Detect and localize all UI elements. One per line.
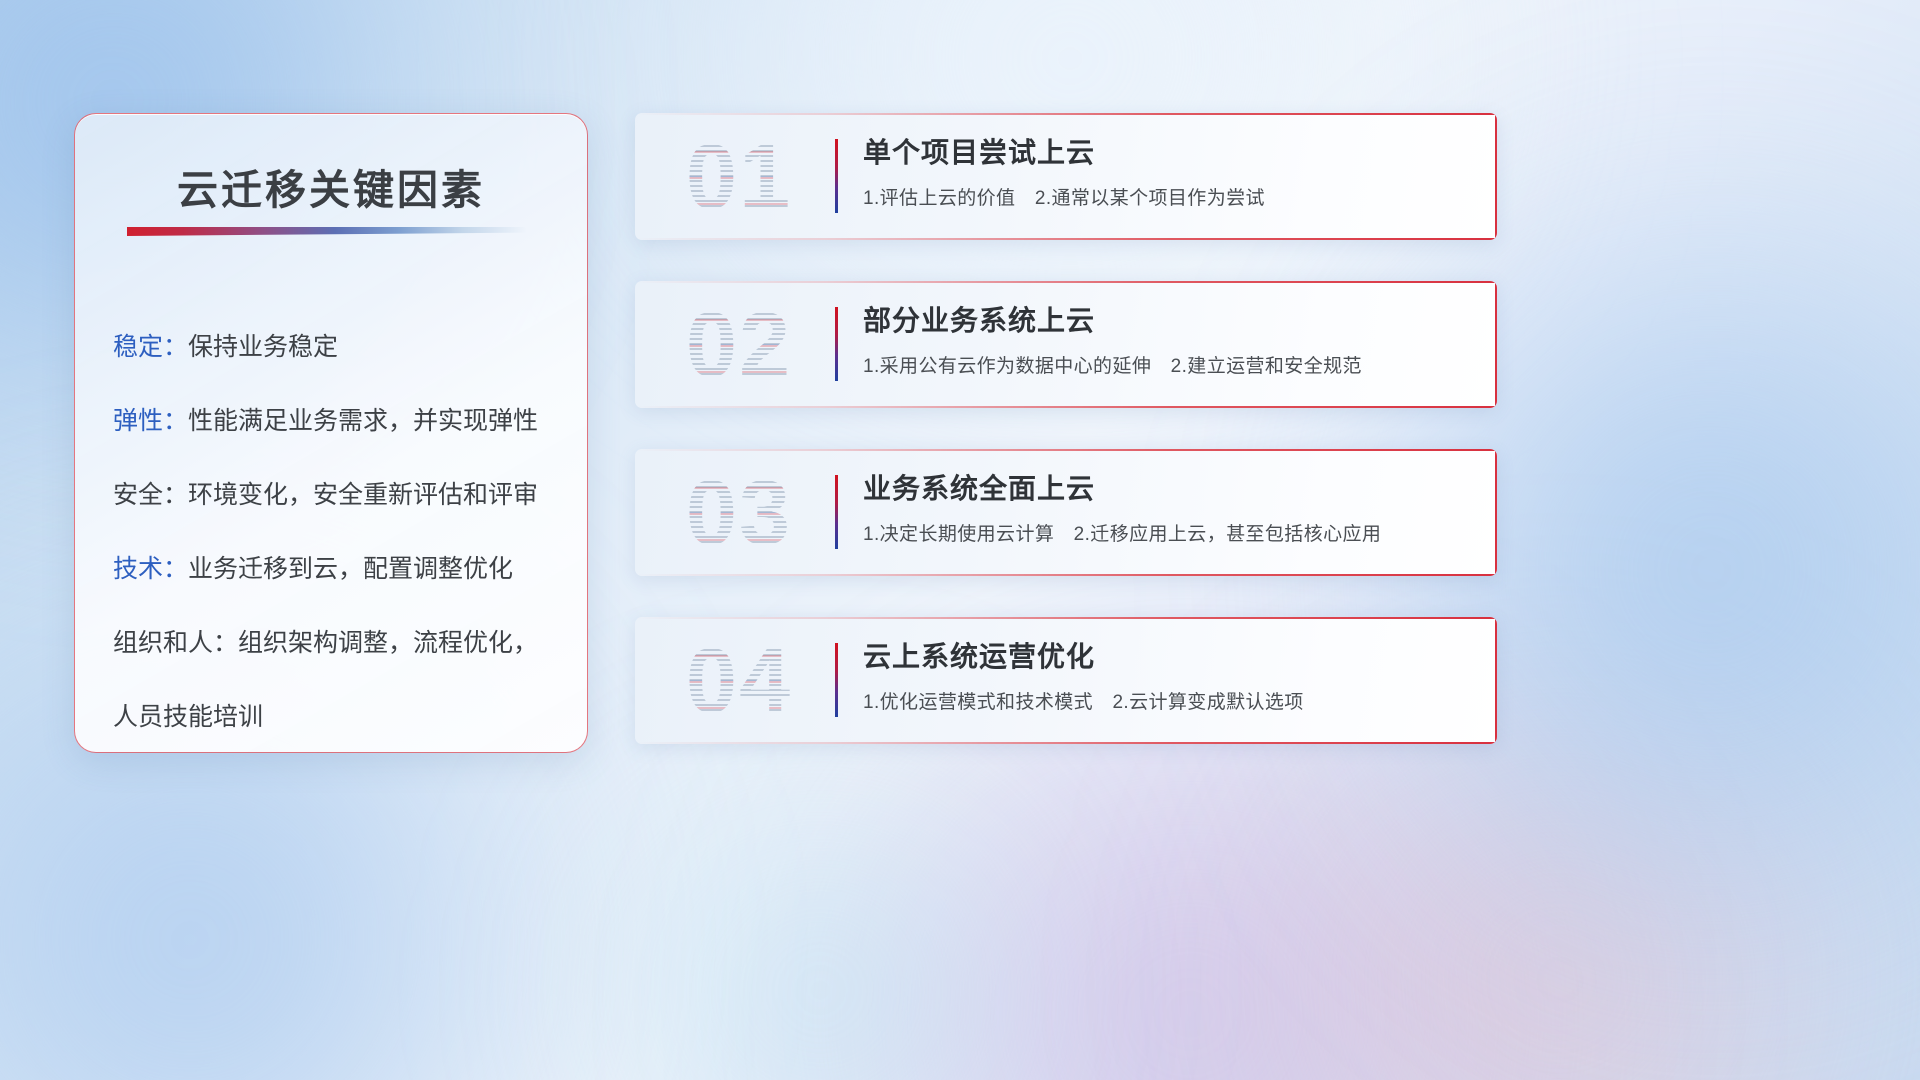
- key-factor-text: 保持业务稳定: [188, 333, 338, 361]
- card-title: 业务系统全面上云: [863, 469, 1475, 509]
- card-body: 部分业务系统上云1.采用公有云作为数据中心的延伸 2.建立运营和安全规范: [863, 301, 1475, 378]
- card-accent-edge: [1495, 449, 1497, 576]
- card-divider-icon: [835, 643, 838, 717]
- page-title: 云迁移关键因素: [75, 156, 587, 216]
- key-factor-text: 环境变化，安全重新评估和评审: [188, 481, 538, 509]
- card-description: 1.优化运营模式和技术模式 2.云计算变成默认选项: [863, 687, 1475, 714]
- card-description: 1.采用公有云作为数据中心的延伸 2.建立运营和安全规范: [863, 351, 1475, 378]
- card-body: 云上系统运营优化1.优化运营模式和技术模式 2.云计算变成默认选项: [863, 637, 1475, 714]
- stage-card-list: 0101单个项目尝试上云1.评估上云的价值 2.通常以某个项目作为尝试0202部…: [635, 113, 1497, 785]
- card-accent-edge: [1495, 113, 1497, 240]
- card-title: 单个项目尝试上云: [863, 133, 1475, 173]
- key-factor-row: 安全：环境变化，安全重新评估和评审: [113, 458, 563, 532]
- stage-number-tint: 04: [659, 629, 819, 733]
- title-underline-icon: [127, 227, 527, 236]
- stage-number-tint: 03: [659, 461, 819, 565]
- key-factors-panel: 云迁移关键因素 稳定：保持业务稳定弹性：性能满足业务需求，并实现弹性安全：环境变…: [74, 113, 588, 753]
- key-factor-label: 安全：: [113, 481, 188, 509]
- key-factor-label: 技术：: [113, 555, 188, 583]
- key-factor-row: 技术：业务迁移到云，配置调整优化: [113, 532, 563, 606]
- stage-number-tint: 01: [659, 125, 819, 229]
- card-accent-edge: [1495, 617, 1497, 744]
- key-factor-label: 弹性：: [113, 407, 188, 435]
- card-accent-edge: [1495, 281, 1497, 408]
- key-factor-text: 人员技能培训: [113, 703, 263, 731]
- card-description: 1.决定长期使用云计算 2.迁移应用上云，甚至包括核心应用: [863, 519, 1475, 546]
- key-factor-label: 组织和人：: [113, 629, 238, 657]
- stage-number-tint: 02: [659, 293, 819, 397]
- stage-card[interactable]: 0404云上系统运营优化1.优化运营模式和技术模式 2.云计算变成默认选项: [635, 617, 1497, 744]
- card-body: 单个项目尝试上云1.评估上云的价值 2.通常以某个项目作为尝试: [863, 133, 1475, 210]
- key-factor-text: 性能满足业务需求，并实现弹性: [188, 407, 538, 435]
- card-divider-icon: [835, 139, 838, 213]
- key-factor-text: 业务迁移到云，配置调整优化: [188, 555, 513, 583]
- key-factor-row: 组织和人：组织架构调整，流程优化，: [113, 606, 563, 680]
- card-body: 业务系统全面上云1.决定长期使用云计算 2.迁移应用上云，甚至包括核心应用: [863, 469, 1475, 546]
- key-factors-list: 稳定：保持业务稳定弹性：性能满足业务需求，并实现弹性安全：环境变化，安全重新评估…: [113, 310, 563, 753]
- stage-card[interactable]: 0202部分业务系统上云1.采用公有云作为数据中心的延伸 2.建立运营和安全规范: [635, 281, 1497, 408]
- card-title: 云上系统运营优化: [863, 637, 1475, 677]
- card-divider-icon: [835, 307, 838, 381]
- card-description: 1.评估上云的价值 2.通常以某个项目作为尝试: [863, 183, 1475, 210]
- card-divider-icon: [835, 475, 838, 549]
- key-factor-row: 人员技能培训: [113, 680, 563, 753]
- card-title: 部分业务系统上云: [863, 301, 1475, 341]
- key-factor-label: 稳定：: [113, 333, 188, 361]
- stage-card[interactable]: 0101单个项目尝试上云1.评估上云的价值 2.通常以某个项目作为尝试: [635, 113, 1497, 240]
- key-factor-text: 组织架构调整，流程优化，: [238, 629, 538, 657]
- key-factor-row: 弹性：性能满足业务需求，并实现弹性: [113, 384, 563, 458]
- stage-card[interactable]: 0303业务系统全面上云1.决定长期使用云计算 2.迁移应用上云，甚至包括核心应…: [635, 449, 1497, 576]
- key-factor-row: 稳定：保持业务稳定: [113, 310, 563, 384]
